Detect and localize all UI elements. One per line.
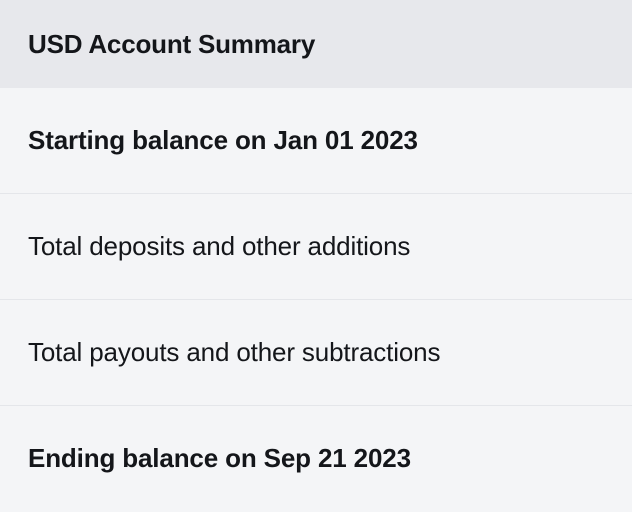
summary-row-list: Starting balance on Jan 01 2023 Total de… — [0, 88, 632, 512]
table-row: Total deposits and other additions — [0, 194, 632, 300]
row-label-total-payouts: Total payouts and other subtractions — [28, 338, 440, 368]
usd-account-summary-panel: USD Account Summary Starting balance on … — [0, 0, 632, 512]
row-label-ending-balance: Ending balance on Sep 21 2023 — [28, 444, 411, 474]
row-label-starting-balance: Starting balance on Jan 01 2023 — [28, 126, 418, 156]
row-label-total-deposits: Total deposits and other additions — [28, 232, 410, 262]
table-row: Ending balance on Sep 21 2023 — [0, 406, 632, 512]
table-row: Starting balance on Jan 01 2023 — [0, 88, 632, 194]
table-row: Total payouts and other subtractions — [0, 300, 632, 406]
panel-header: USD Account Summary — [0, 0, 632, 88]
page-title: USD Account Summary — [28, 30, 315, 59]
